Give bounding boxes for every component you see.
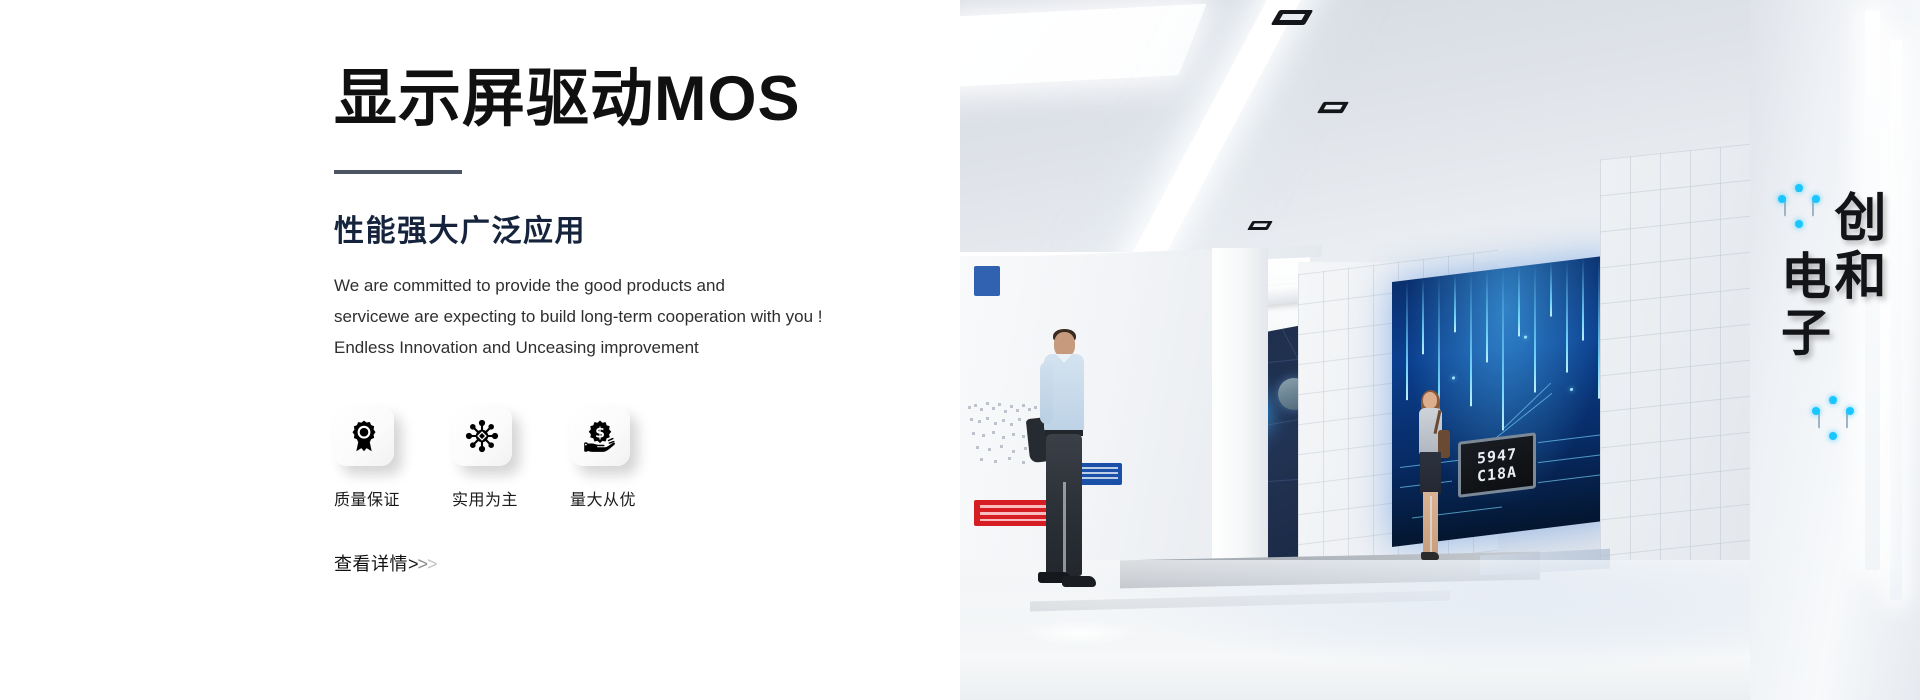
chevron-2: > [418,554,428,574]
feature-item-quality[interactable]: 质量保证 [334,406,452,510]
title-divider [334,170,462,174]
woman-head [1423,392,1437,409]
feature-list: 质量保证 [334,406,934,510]
company-name-column-2: 电子 [1766,250,1838,362]
showroom-photo: 5947 C18A [960,0,1920,700]
led-dot-1 [1452,376,1455,379]
woman-skirt [1420,452,1441,494]
skylight-panel-light [960,4,1207,89]
wall-sign-small [974,266,1000,296]
page-title: 显示屏驱动MOS [334,62,934,136]
floor-light-pool [1020,620,1140,646]
banner-content: 显示屏驱动MOS 性能强大广泛应用 We are committed to pr… [334,62,934,576]
molecule-icon-bottom [1812,396,1856,444]
led-dot-2 [1524,335,1527,338]
network-hub-icon [452,406,512,466]
person-businessman [1026,332,1096,602]
chevron-3: > [427,554,437,574]
woman-leg-split [1430,496,1432,552]
view-details-link[interactable]: 查看详情 >>> [334,550,437,576]
man-shoe-right [1062,576,1096,587]
chip-line-2: C18A [1477,463,1517,486]
molecule-icon-top [1778,184,1822,232]
text-panel: 显示屏驱动MOS 性能强大广泛应用 We are committed to pr… [0,0,960,700]
description-line-2: servicewe are expecting to build long-te… [334,301,934,332]
hero-banner: 显示屏驱动MOS 性能强大广泛应用 We are committed to pr… [0,0,1920,700]
man-leg-split [1063,482,1066,576]
woman-shoes [1421,552,1439,560]
chip-label: 5947 C18A [1458,432,1536,498]
person-businesswoman [1408,392,1452,564]
description-text: We are committed to provide the good pro… [334,270,934,363]
molecule-ring-bottom [1818,402,1848,436]
sub-title: 性能强大广泛应用 [334,214,934,250]
feature-label-practical: 实用为主 [452,486,518,510]
svg-text:$: $ [595,426,605,442]
feature-item-bulk[interactable]: $ 量大从优 [570,406,688,510]
feature-item-practical[interactable]: 实用为主 [452,406,570,510]
chevron-right-icon: >>> [408,554,437,575]
description-line-3: Endless Innovation and Unceasing improve… [334,332,934,363]
chevron-1: > [408,554,418,574]
view-details-label: 查看详情 [334,550,408,576]
feature-label-quality: 质量保证 [334,486,400,510]
award-ribbon-icon [334,406,394,466]
description-line-1: We are committed to provide the good pro… [334,270,934,301]
hand-money-icon: $ [570,406,630,466]
man-arm [1040,362,1053,424]
molecule-ring-top [1784,190,1814,224]
sign-wall-light-strip [1890,40,1902,600]
led-dot-3 [1570,388,1573,391]
feature-label-bulk: 量大从优 [570,486,636,510]
